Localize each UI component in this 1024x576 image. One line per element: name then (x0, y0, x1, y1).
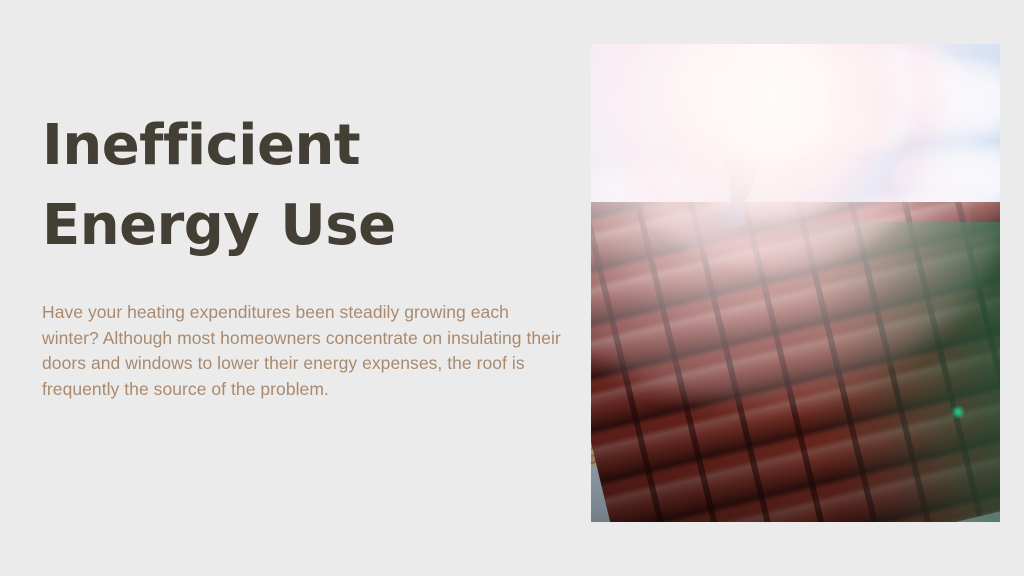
slide: Inefficient Energy Use Have your heating… (0, 0, 1024, 576)
text-column: Inefficient Energy Use (42, 106, 562, 265)
page-title: Inefficient Energy Use (42, 106, 542, 265)
roof-photo (591, 44, 1000, 522)
body-paragraph: Have your heating expenditures been stea… (42, 300, 564, 402)
green-highlight-spot (952, 406, 964, 418)
